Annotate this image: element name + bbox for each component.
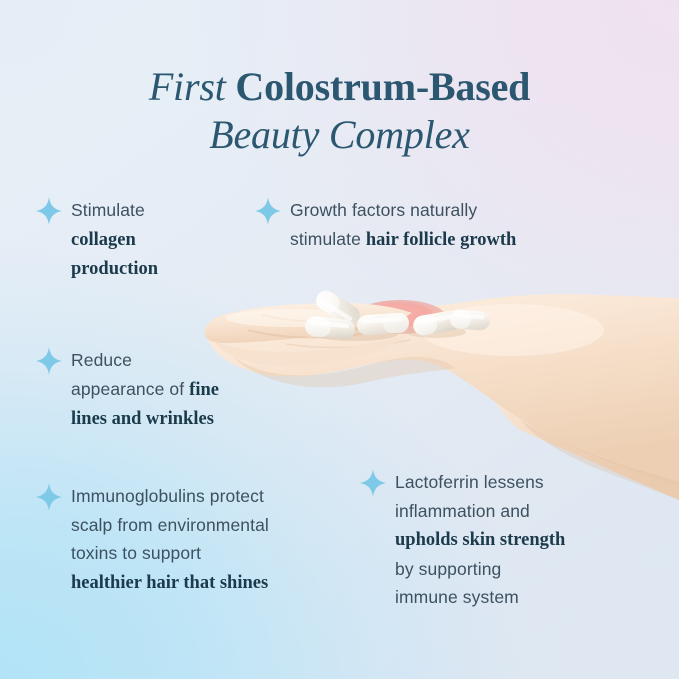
benefit-lactoferrin: Lactoferrin lessens inflammation and uph… (360, 468, 640, 612)
benefit-growth-factors-text: Growth factors naturally stimulate hair … (290, 196, 516, 254)
sparkle-icon (360, 469, 386, 497)
benefit-immunoglobulins: Immunoglobulins protect scalp from envir… (36, 482, 346, 597)
benefit-line: immune system (395, 587, 519, 607)
benefit-line-emphasis: production (71, 259, 158, 279)
thumb-pad (354, 300, 446, 334)
benefit-line-emphasis: hair follicle growth (366, 230, 516, 250)
benefit-line: Immunoglobulins protect (71, 486, 264, 506)
capsule (412, 309, 463, 337)
capsule (449, 309, 490, 331)
benefit-line: scalp from environmental (71, 515, 269, 535)
benefit-line: by supporting (395, 559, 501, 579)
capsule (312, 287, 363, 329)
sparkle-icon (36, 197, 62, 225)
benefit-line-emphasis: fine (189, 380, 219, 400)
capsule (356, 312, 409, 336)
benefit-collagen: Stimulate collagen production (36, 196, 246, 284)
finger-crease-2 (248, 330, 378, 338)
benefit-fine-lines: Reduce appearance of fine lines and wrin… (36, 346, 286, 434)
sparkle-icon (36, 347, 62, 375)
index-finger (205, 303, 412, 343)
capsule (304, 315, 356, 340)
benefit-lactoferrin-text: Lactoferrin lessens inflammation and uph… (395, 468, 565, 612)
benefit-growth-factors: Growth factors naturally stimulate hair … (255, 196, 585, 254)
sparkle-icon (36, 483, 62, 511)
benefit-line: inflammation and (395, 501, 530, 521)
benefit-collagen-text: Stimulate collagen production (71, 196, 158, 284)
promo-poster: First Colostrum-Based Beauty Complex Sti… (0, 0, 679, 679)
benefit-line: Reduce (71, 350, 132, 370)
sparkle-icon (255, 197, 281, 225)
capsule-group (304, 287, 491, 341)
benefit-line: Lactoferrin lessens (395, 472, 544, 492)
benefit-line: stimulate (290, 229, 366, 249)
benefit-line: Growth factors naturally (290, 200, 477, 220)
benefit-line: toxins to support (71, 543, 201, 563)
benefit-line: Stimulate (71, 200, 145, 220)
page-title: First Colostrum-Based Beauty Complex (0, 63, 679, 157)
headline-line-2: Beauty Complex (0, 111, 679, 158)
benefit-fine-lines-text: Reduce appearance of fine lines and wrin… (71, 346, 219, 434)
headline-first: First (149, 64, 236, 109)
benefit-line-emphasis: upholds skin strength (395, 530, 565, 550)
benefit-line-emphasis: collagen (71, 230, 136, 250)
benefit-line: appearance of (71, 379, 189, 399)
headline-line-1: First Colostrum-Based (0, 63, 679, 110)
benefit-line-emphasis: healthier hair that shines (71, 573, 268, 593)
benefit-immunoglobulins-text: Immunoglobulins protect scalp from envir… (71, 482, 269, 597)
finger-highlight (226, 309, 358, 327)
headline-colostrum-based: Colostrum-Based (235, 64, 530, 109)
palm-highlight (420, 304, 604, 356)
benefit-line-emphasis: lines and wrinkles (71, 409, 214, 429)
finger-crease-1 (262, 315, 364, 322)
finger-crease-3 (286, 340, 410, 347)
